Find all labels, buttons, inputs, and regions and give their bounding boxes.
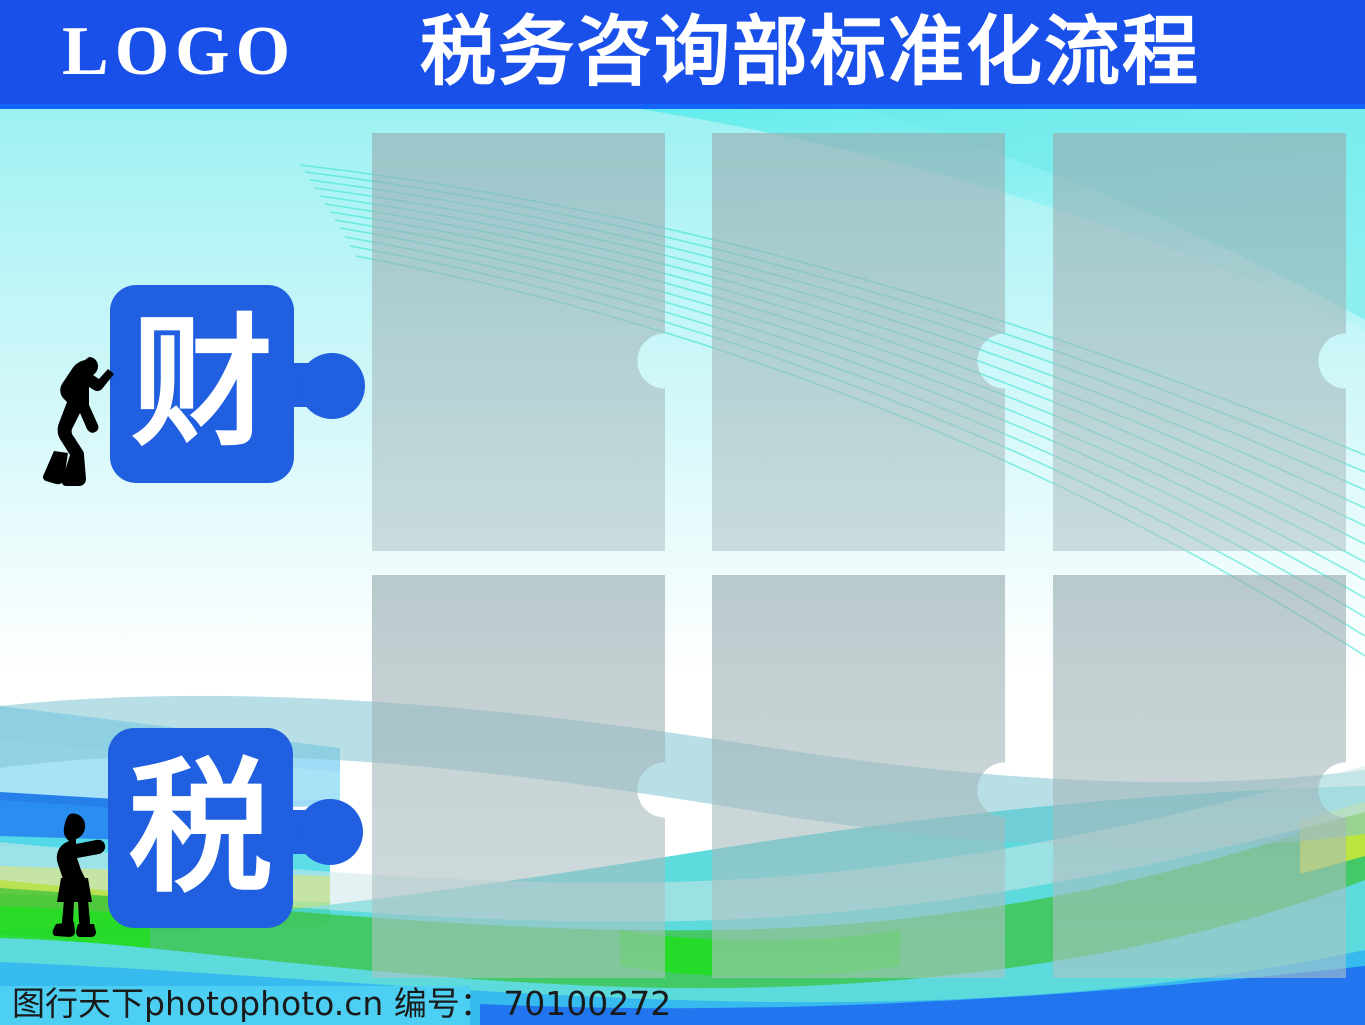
puzzle-body-shui: 税	[108, 728, 293, 928]
page-title: 税务咨询部标准化流程	[420, 6, 1200, 98]
content-panel-4[interactable]	[372, 575, 665, 978]
content-panel-3[interactable]	[1053, 133, 1346, 551]
content-panel-1[interactable]	[372, 133, 665, 551]
poster-canvas: 财 税 LOGO 税务咨询部标准化流程 图行天下photophoto.cn 编号…	[0, 0, 1365, 1025]
figure-man-pushing	[42, 355, 120, 495]
header-underline	[0, 104, 1365, 109]
puzzle-piece-cai[interactable]: 财	[110, 285, 365, 485]
logo-text[interactable]: LOGO	[62, 10, 296, 94]
content-panel-5[interactable]	[712, 575, 1005, 978]
puzzle-knob-shui	[297, 799, 363, 865]
puzzle-piece-shui[interactable]: 税	[108, 728, 363, 930]
puzzle-knob-cai	[299, 353, 365, 419]
puzzle-body-cai: 财	[110, 285, 294, 483]
content-panel-6[interactable]	[1053, 575, 1346, 978]
puzzle-label-cai: 财	[131, 313, 273, 455]
content-panel-2[interactable]	[712, 133, 1005, 551]
watermark-footer: 图行天下photophoto.cn 编号： 70100272	[12, 977, 671, 1025]
puzzle-label-shui: 税	[128, 756, 272, 900]
figure-woman-pushing	[40, 812, 118, 940]
